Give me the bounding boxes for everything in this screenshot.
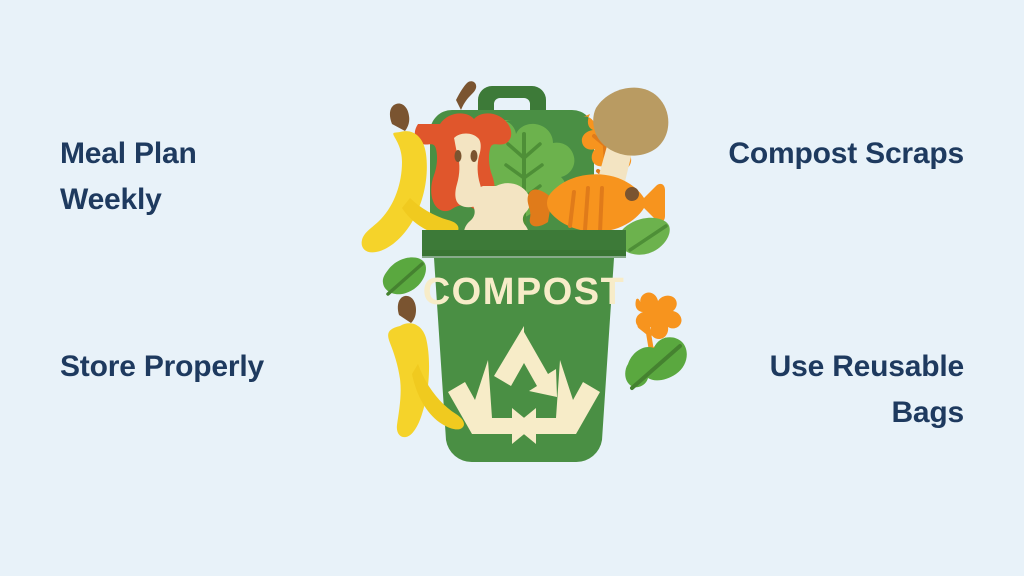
bin-rim-shadow	[422, 250, 626, 258]
tip-meal-plan-weekly: Meal Plan Weekly	[60, 131, 360, 222]
poster-canvas: Meal Plan Weekly Compost Scraps Store Pr…	[0, 0, 1024, 576]
apple-stem	[456, 81, 476, 110]
bin-compost-label: COMPOST	[423, 271, 626, 313]
banana-stem-left	[398, 296, 416, 323]
tip-store-properly: Store Properly	[60, 344, 360, 390]
bin-handle-icon	[478, 86, 546, 114]
apple-seed	[471, 150, 478, 162]
banana-stem	[390, 104, 409, 131]
apple-seed	[455, 150, 462, 162]
leaf-small-left-icon	[383, 257, 426, 294]
leaf-right-icon	[625, 337, 687, 388]
mushroom-cap	[593, 88, 668, 156]
fish-eye	[625, 187, 639, 201]
compost-bin-illustration: COMPOST	[344, 72, 704, 472]
